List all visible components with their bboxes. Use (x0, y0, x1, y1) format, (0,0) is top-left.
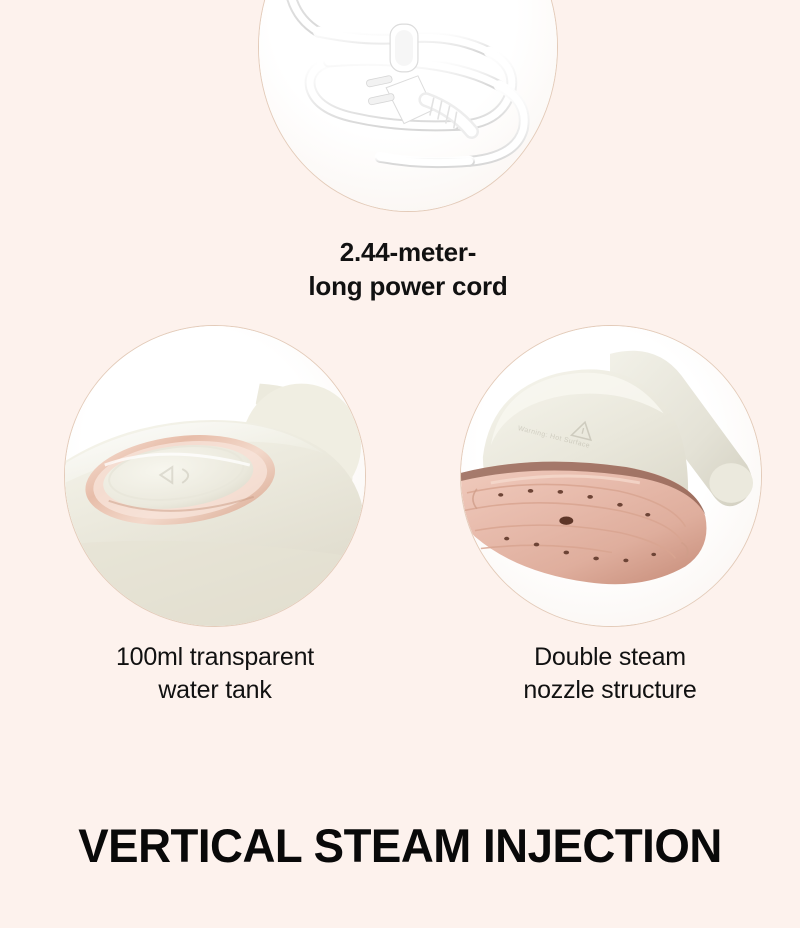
feature-image-power-cord (258, 0, 558, 212)
power-cord-illustration (259, 0, 557, 211)
product-feature-page: 2.44-meter- long power cord (0, 0, 800, 928)
caption-water-tank: 100ml transparent water tank (45, 641, 385, 706)
caption-line: long power cord (258, 270, 558, 304)
power-cord-photo (259, 0, 557, 211)
water-tank-illustration (65, 326, 365, 626)
steam-nozzle-photo: Warning: Hot Surface (461, 326, 761, 626)
plug-prong-lower (368, 93, 395, 105)
central-steam-vent (559, 517, 573, 525)
feature-image-water-tank (64, 325, 366, 627)
caption-line: 100ml transparent (45, 641, 385, 674)
caption-line: 2.44-meter- (258, 236, 558, 270)
rose-gold-soleplate (461, 462, 706, 585)
caption-line: nozzle structure (440, 674, 780, 707)
caption-line: water tank (45, 674, 385, 707)
cord-tie (390, 24, 418, 72)
plug-prong-upper (366, 75, 393, 87)
caption-power-cord: 2.44-meter- long power cord (258, 236, 558, 304)
page-headline: VERTICAL STEAM INJECTION (12, 818, 788, 873)
caption-steam-nozzle: Double steam nozzle structure (440, 641, 780, 706)
caption-line: Double steam (440, 641, 780, 674)
feature-image-steam-nozzle: Warning: Hot Surface (460, 325, 762, 627)
water-tank-photo (65, 326, 365, 626)
steam-nozzle-illustration: Warning: Hot Surface (461, 326, 761, 626)
next-section-edge-strip (0, 918, 800, 928)
